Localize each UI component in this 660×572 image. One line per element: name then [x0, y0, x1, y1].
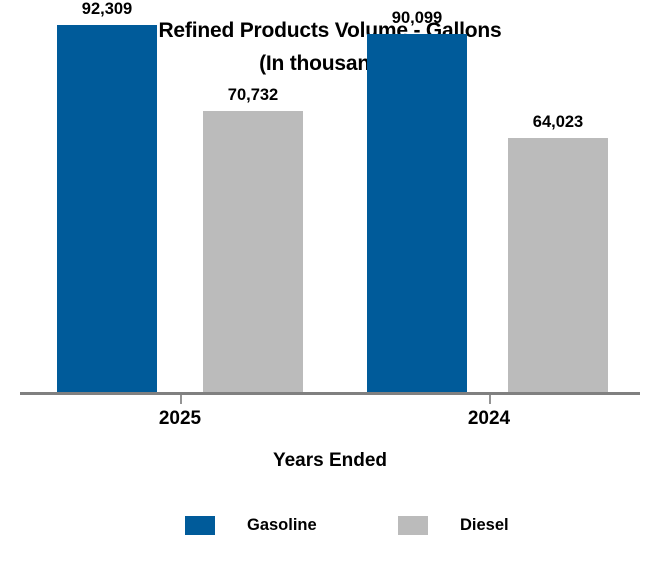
bar-2024-gasoline — [367, 34, 467, 393]
x-axis-label-2024: 2024 — [429, 408, 549, 430]
legend-item-gasoline: Gasoline — [185, 513, 317, 537]
chart-legend: Gasoline Diesel — [0, 513, 660, 543]
x-axis-label-2025: 2025 — [120, 408, 240, 430]
x-axis-tick-2025 — [180, 395, 182, 404]
bar-2024-diesel — [508, 138, 608, 393]
x-axis-tick-2024 — [489, 395, 491, 404]
bar-value-label-2025-diesel: 70,732 — [203, 86, 303, 105]
bar-value-label-2024-diesel: 64,023 — [508, 113, 608, 132]
legend-swatch-diesel-icon — [398, 516, 428, 535]
legend-swatch-gasoline-icon — [185, 516, 215, 535]
legend-label-diesel: Diesel — [460, 516, 509, 535]
bar-2025-diesel — [203, 111, 303, 393]
x-axis-line — [20, 392, 640, 395]
bar-value-label-2025-gasoline: 92,309 — [57, 0, 157, 19]
plot-area: 92,309 70,732 90,099 64,023 — [0, 0, 660, 400]
bar-chart: Refined Products Volume - Gallons (In th… — [0, 0, 660, 572]
legend-label-gasoline: Gasoline — [247, 516, 317, 535]
bar-2025-gasoline — [57, 25, 157, 393]
x-axis-title: Years Ended — [0, 450, 660, 472]
legend-item-diesel: Diesel — [398, 513, 509, 537]
bar-value-label-2024-gasoline: 90,099 — [367, 9, 467, 28]
